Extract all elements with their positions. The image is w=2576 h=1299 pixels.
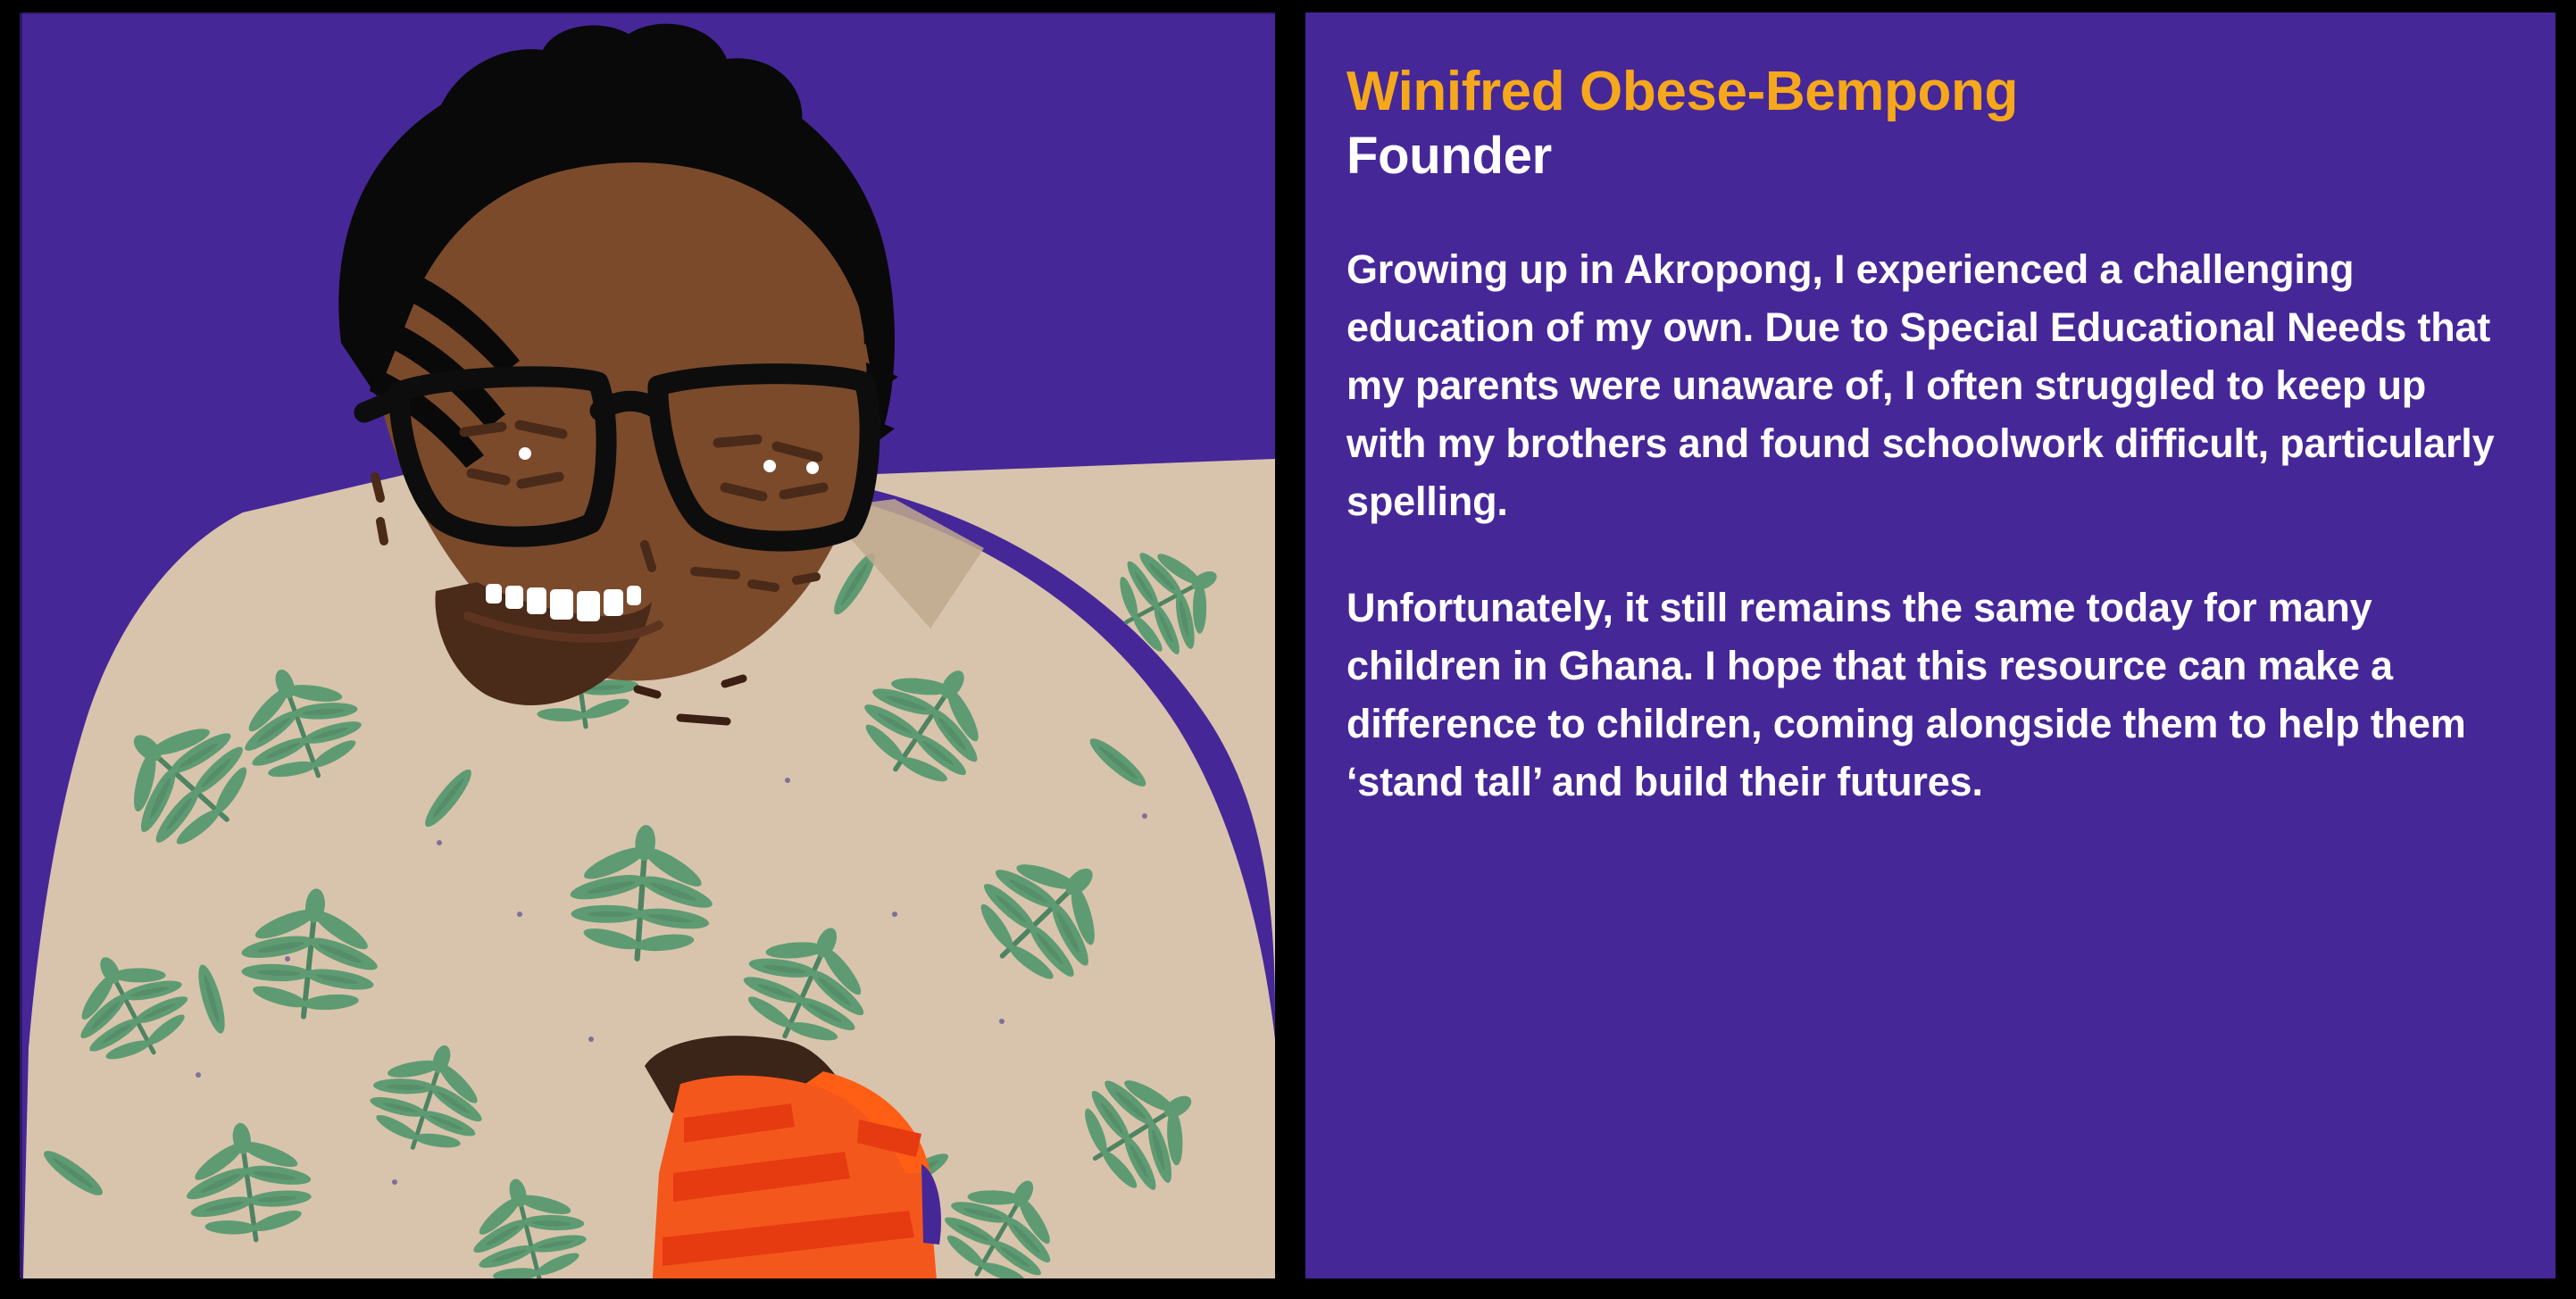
bio-paragraph-1: Growing up in Akropong, I experienced a … (1346, 240, 2502, 530)
bio-paragraph-2: Unfortunately, it still remains the same… (1346, 579, 2502, 811)
person-name: Winifred Obese-Bempong (1346, 62, 2502, 122)
portrait-panel (20, 12, 1275, 1278)
bio-panel: Winifred Obese-Bempong Founder Growing u… (1305, 12, 2555, 1278)
person-role: Founder (1346, 128, 2502, 185)
bottom-border (0, 1281, 2576, 1299)
portrait-illustration (20, 12, 1275, 1278)
profile-card: Winifred Obese-Bempong Founder Growing u… (0, 0, 2576, 1299)
